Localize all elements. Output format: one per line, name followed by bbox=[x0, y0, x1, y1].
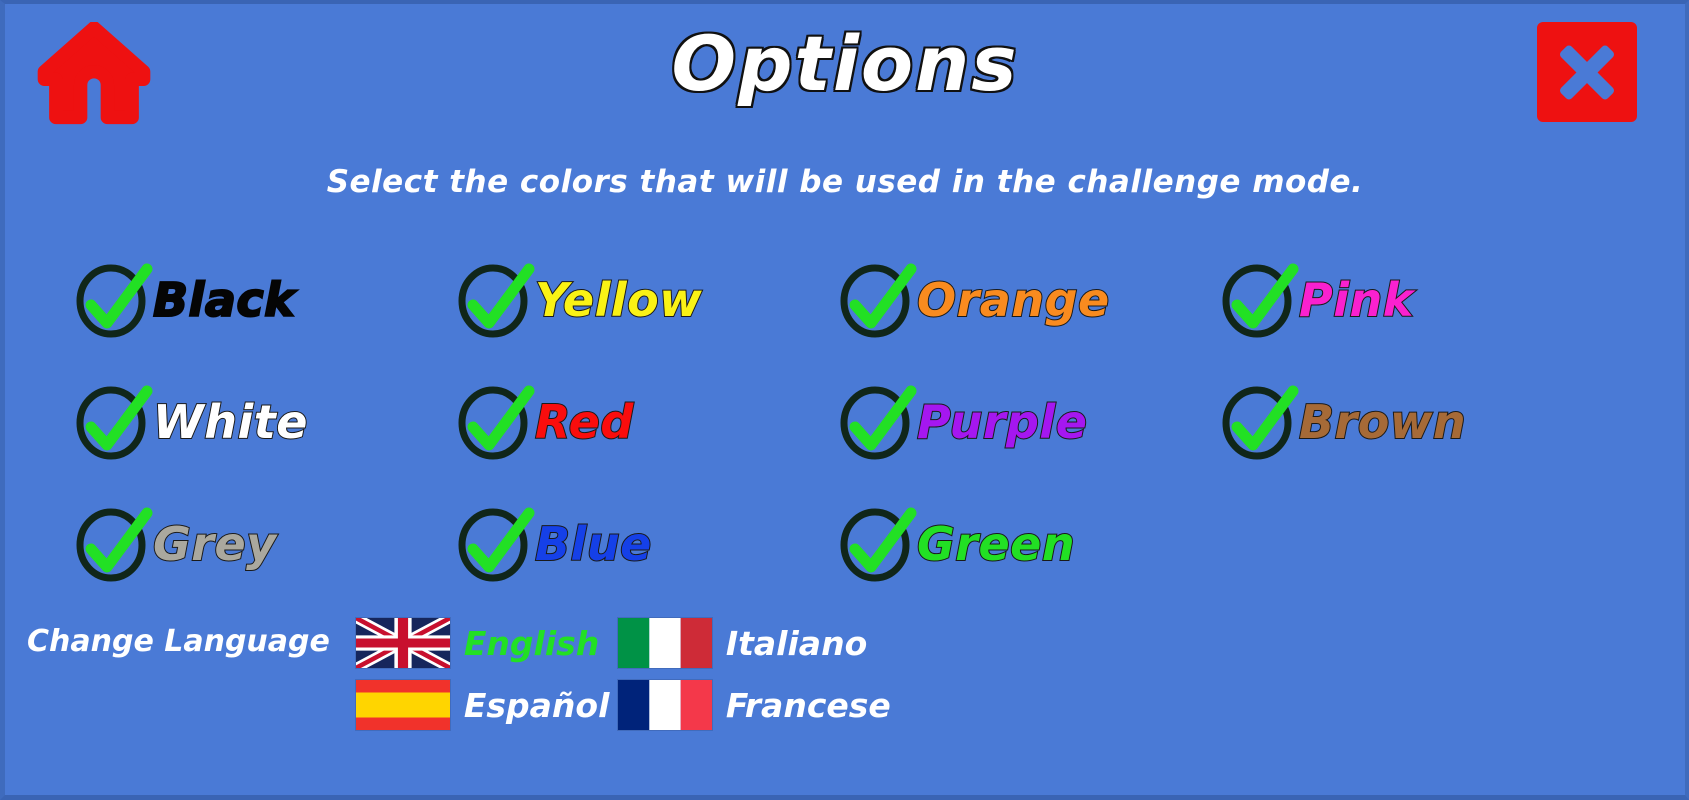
color-label-blue: Blue bbox=[535, 521, 652, 567]
language-option-italy[interactable]: Italiano bbox=[618, 612, 880, 674]
checkbox-green[interactable] bbox=[839, 509, 909, 579]
color-toggle-orange[interactable]: Orange bbox=[839, 250, 1221, 350]
language-label-english: English bbox=[464, 627, 599, 660]
color-toggle-black[interactable]: Black bbox=[75, 250, 457, 350]
color-label-red: Red bbox=[535, 399, 634, 445]
checkmark-icon bbox=[1217, 255, 1303, 341]
color-row: BlackYellowOrangePink bbox=[75, 239, 1635, 361]
color-toggle-brown[interactable]: Brown bbox=[1221, 372, 1603, 472]
checkbox-blue[interactable] bbox=[457, 509, 527, 579]
color-row: GreyBlueGreen bbox=[75, 483, 1635, 605]
language-option-spain[interactable]: Español bbox=[356, 674, 618, 736]
checkbox-red[interactable] bbox=[457, 387, 527, 457]
checkbox-grey[interactable] bbox=[75, 509, 145, 579]
checkbox-orange[interactable] bbox=[839, 265, 909, 335]
color-label-black: Black bbox=[153, 277, 295, 323]
color-label-green: Green bbox=[917, 521, 1075, 567]
color-label-brown: Brown bbox=[1299, 399, 1466, 445]
checkmark-icon bbox=[71, 255, 157, 341]
flag-united-kingdom-icon bbox=[356, 618, 450, 668]
flag-france-icon bbox=[618, 680, 712, 730]
color-toggle-purple[interactable]: Purple bbox=[839, 372, 1221, 472]
color-selection-grid: BlackYellowOrangePinkWhiteRedPurpleBrown… bbox=[75, 239, 1635, 605]
checkmark-icon bbox=[835, 255, 921, 341]
page-title: Options bbox=[5, 24, 1685, 104]
color-label-white: White bbox=[153, 399, 308, 445]
change-language-label: Change Language bbox=[27, 624, 330, 659]
color-cell-empty bbox=[1221, 494, 1603, 594]
color-toggle-grey[interactable]: Grey bbox=[75, 494, 457, 594]
checkmark-icon bbox=[453, 255, 539, 341]
header-bar: Options bbox=[5, 4, 1685, 149]
color-toggle-green[interactable]: Green bbox=[839, 494, 1221, 594]
checkmark-icon bbox=[71, 499, 157, 585]
checkmark-icon bbox=[453, 377, 539, 463]
color-label-grey: Grey bbox=[153, 521, 277, 567]
close-button[interactable] bbox=[1537, 22, 1637, 122]
options-screen: Options Select the colors that will be u… bbox=[0, 0, 1689, 800]
flag-italy-icon bbox=[618, 618, 712, 668]
language-label-italiano: Italiano bbox=[726, 627, 867, 660]
color-toggle-pink[interactable]: Pink bbox=[1221, 250, 1603, 350]
color-toggle-yellow[interactable]: Yellow bbox=[457, 250, 839, 350]
color-toggle-white[interactable]: White bbox=[75, 372, 457, 472]
language-label-español: Español bbox=[464, 689, 610, 722]
checkbox-yellow[interactable] bbox=[457, 265, 527, 335]
flag-spain-icon bbox=[356, 680, 450, 730]
checkbox-white[interactable] bbox=[75, 387, 145, 457]
checkmark-icon bbox=[1217, 377, 1303, 463]
checkmark-icon bbox=[835, 499, 921, 585]
language-option-united-kingdom[interactable]: English bbox=[356, 612, 618, 674]
checkbox-pink[interactable] bbox=[1221, 265, 1291, 335]
language-section: Change Language EnglishItalianoEspañolFr… bbox=[27, 612, 1627, 736]
color-row: WhiteRedPurpleBrown bbox=[75, 361, 1635, 483]
language-option-france[interactable]: Francese bbox=[618, 674, 880, 736]
checkbox-brown[interactable] bbox=[1221, 387, 1291, 457]
checkbox-black[interactable] bbox=[75, 265, 145, 335]
color-toggle-blue[interactable]: Blue bbox=[457, 494, 839, 594]
color-label-orange: Orange bbox=[917, 277, 1110, 323]
checkmark-icon bbox=[71, 377, 157, 463]
color-toggle-red[interactable]: Red bbox=[457, 372, 839, 472]
color-label-pink: Pink bbox=[1299, 277, 1414, 323]
color-label-purple: Purple bbox=[917, 399, 1087, 445]
checkmark-icon bbox=[835, 377, 921, 463]
checkmark-icon bbox=[453, 499, 539, 585]
checkbox-purple[interactable] bbox=[839, 387, 909, 457]
instruction-text: Select the colors that will be used in t… bbox=[5, 164, 1685, 200]
color-label-yellow: Yellow bbox=[535, 277, 702, 323]
language-label-francese: Francese bbox=[726, 689, 891, 722]
language-options: EnglishItalianoEspañolFrancese bbox=[356, 612, 880, 736]
